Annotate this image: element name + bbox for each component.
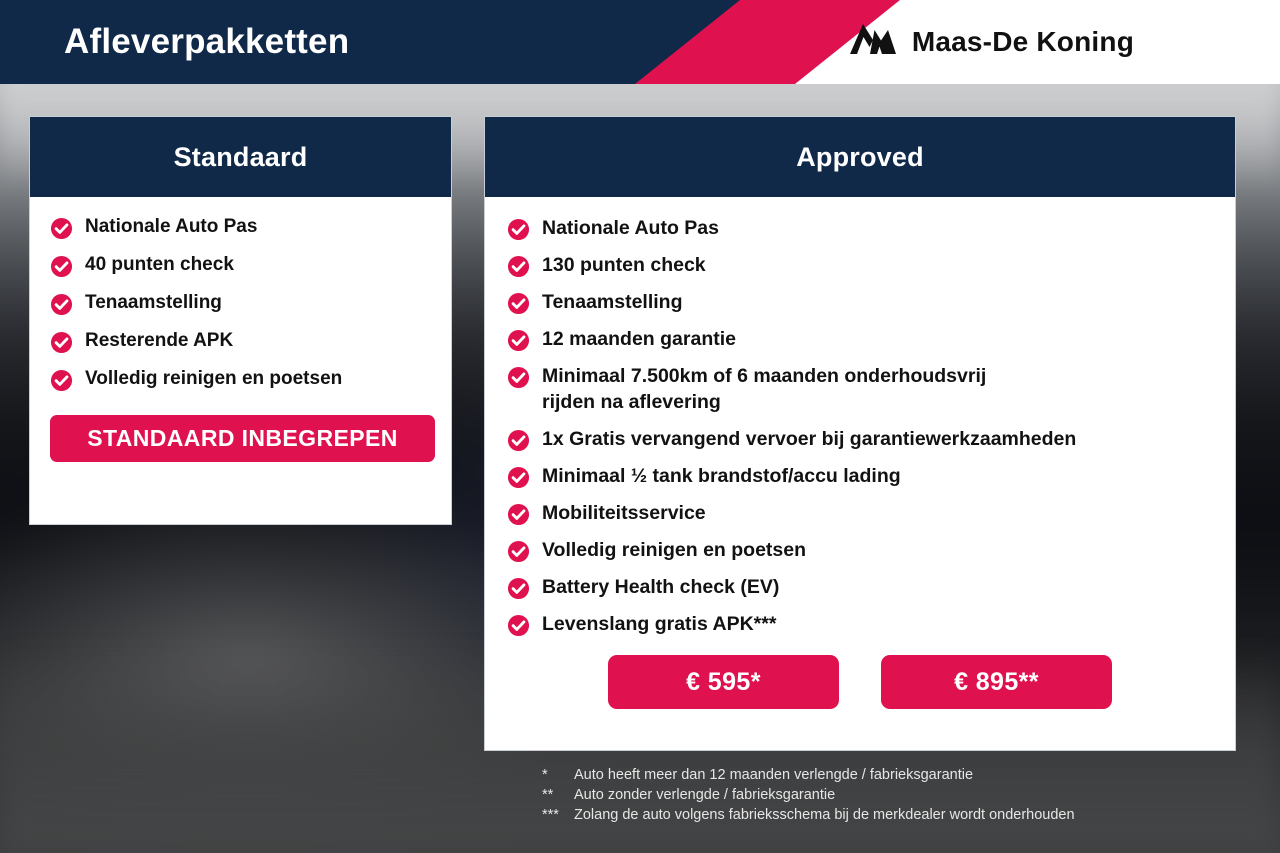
check-circle-icon bbox=[507, 255, 530, 278]
check-circle-icon bbox=[50, 369, 73, 392]
feature-item: Battery Health check (EV) bbox=[507, 574, 1213, 600]
check-circle-icon bbox=[507, 614, 530, 637]
poster-canvas: Afleverpakketten Maas-De Koning Standaar… bbox=[0, 0, 1280, 853]
feature-label: Nationale Auto Pas bbox=[542, 215, 719, 241]
card-title: Approved bbox=[796, 142, 924, 173]
check-circle-icon bbox=[507, 218, 530, 241]
feature-item: Volledig reinigen en poetsen bbox=[507, 537, 1213, 563]
feature-label: Mobiliteitsservice bbox=[542, 500, 706, 526]
feature-list-approved: Nationale Auto Pas130 punten checkTenaam… bbox=[507, 215, 1213, 637]
card-title: Standaard bbox=[174, 142, 308, 173]
footnote-marker: *** bbox=[542, 805, 574, 825]
feature-label: Battery Health check (EV) bbox=[542, 574, 779, 600]
feature-item: Tenaamstelling bbox=[50, 291, 431, 316]
feature-label: Minimaal ½ tank brandstof/accu lading bbox=[542, 463, 901, 489]
feature-label: 130 punten check bbox=[542, 252, 706, 278]
feature-label: Tenaamstelling bbox=[542, 289, 683, 315]
check-circle-icon bbox=[507, 577, 530, 600]
page-title: Afleverpakketten bbox=[64, 0, 349, 84]
feature-label: Resterende APK bbox=[85, 329, 233, 352]
feature-label: Volledig reinigen en poetsen bbox=[85, 367, 342, 390]
footnote-text: Auto heeft meer dan 12 maanden verlengde… bbox=[574, 765, 973, 785]
maas-de-koning-m-mark-icon bbox=[848, 21, 898, 64]
card-header-approved: Approved bbox=[485, 117, 1235, 197]
feature-item: Nationale Auto Pas bbox=[50, 215, 431, 240]
feature-item: 130 punten check bbox=[507, 252, 1213, 278]
check-circle-icon bbox=[507, 366, 530, 389]
footnotes: *Auto heeft meer dan 12 maanden verlengd… bbox=[542, 765, 1242, 825]
check-circle-icon bbox=[507, 292, 530, 315]
check-circle-icon bbox=[507, 329, 530, 352]
check-circle-icon bbox=[50, 255, 73, 278]
feature-item: Resterende APK bbox=[50, 329, 431, 354]
feature-label: Levenslang gratis APK*** bbox=[542, 611, 776, 637]
footnote-text: Auto zonder verlengde / fabrieksgarantie bbox=[574, 785, 835, 805]
feature-item: Nationale Auto Pas bbox=[507, 215, 1213, 241]
card-body-standaard: Nationale Auto Pas40 punten checkTenaams… bbox=[30, 197, 451, 462]
price-button-2[interactable]: € 895** bbox=[881, 655, 1112, 709]
feature-item: Minimaal ½ tank brandstof/accu lading bbox=[507, 463, 1213, 489]
feature-label: 12 maanden garantie bbox=[542, 326, 736, 352]
card-header-standaard: Standaard bbox=[30, 117, 451, 197]
feature-label: Volledig reinigen en poetsen bbox=[542, 537, 806, 563]
brand-name: Maas-De Koning bbox=[912, 26, 1134, 58]
feature-item: Mobiliteitsservice bbox=[507, 500, 1213, 526]
check-circle-icon bbox=[50, 217, 73, 240]
feature-item: 1x Gratis vervangend vervoer bij garanti… bbox=[507, 426, 1213, 452]
feature-item: 12 maanden garantie bbox=[507, 326, 1213, 352]
package-card-standaard: Standaard Nationale Auto Pas40 punten ch… bbox=[29, 116, 452, 525]
feature-label: 40 punten check bbox=[85, 253, 234, 276]
page-header: Afleverpakketten Maas-De Koning bbox=[0, 0, 1280, 84]
brand-logo: Maas-De Koning bbox=[848, 0, 1134, 84]
feature-label: Nationale Auto Pas bbox=[85, 215, 257, 238]
check-circle-icon bbox=[50, 293, 73, 316]
price-button-row: € 595*€ 895** bbox=[507, 655, 1213, 709]
check-circle-icon bbox=[507, 503, 530, 526]
package-card-approved: Approved Nationale Auto Pas130 punten ch… bbox=[484, 116, 1236, 751]
footnote-row: **Auto zonder verlengde / fabrieksgarant… bbox=[542, 785, 1242, 805]
footnote-marker: ** bbox=[542, 785, 574, 805]
standaard-inbegrepen-button[interactable]: STANDAARD INBEGREPEN bbox=[50, 415, 435, 462]
footnote-row: *Auto heeft meer dan 12 maanden verlengd… bbox=[542, 765, 1242, 785]
footnote-row: ***Zolang de auto volgens fabrieksschema… bbox=[542, 805, 1242, 825]
feature-item: 40 punten check bbox=[50, 253, 431, 278]
check-circle-icon bbox=[507, 540, 530, 563]
feature-label: Tenaamstelling bbox=[85, 291, 222, 314]
feature-label: Minimaal 7.500km of 6 maanden onderhouds… bbox=[542, 363, 986, 415]
feature-item: Tenaamstelling bbox=[507, 289, 1213, 315]
feature-label: 1x Gratis vervangend vervoer bij garanti… bbox=[542, 426, 1076, 452]
check-circle-icon bbox=[507, 429, 530, 452]
footnote-marker: * bbox=[542, 765, 574, 785]
check-circle-icon bbox=[507, 466, 530, 489]
feature-item: Levenslang gratis APK*** bbox=[507, 611, 1213, 637]
feature-item: Volledig reinigen en poetsen bbox=[50, 367, 431, 392]
feature-item: Minimaal 7.500km of 6 maanden onderhouds… bbox=[507, 363, 1213, 415]
price-button-1[interactable]: € 595* bbox=[608, 655, 839, 709]
check-circle-icon bbox=[50, 331, 73, 354]
footnote-text: Zolang de auto volgens fabrieksschema bi… bbox=[574, 805, 1075, 825]
feature-list-standaard: Nationale Auto Pas40 punten checkTenaams… bbox=[50, 215, 431, 392]
card-body-approved: Nationale Auto Pas130 punten checkTenaam… bbox=[485, 197, 1235, 709]
